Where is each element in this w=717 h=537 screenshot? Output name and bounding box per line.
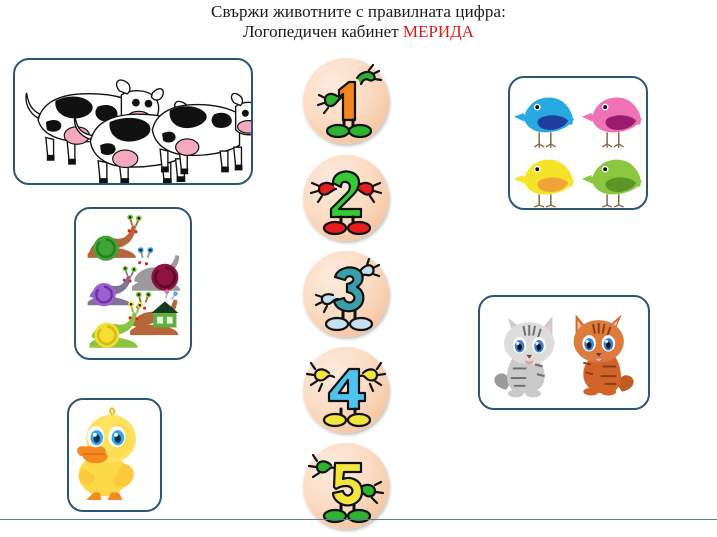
animal-card-duckling[interactable] bbox=[67, 398, 162, 512]
cows-illustration bbox=[15, 60, 251, 183]
animal-card-snails[interactable] bbox=[74, 207, 192, 360]
footer-divider bbox=[0, 519, 717, 520]
kittens-illustration bbox=[480, 297, 648, 408]
number-medallion-1[interactable] bbox=[303, 58, 389, 144]
animal-card-cows[interactable] bbox=[13, 58, 253, 185]
digit-2-character bbox=[303, 155, 389, 241]
number-medallion-2[interactable] bbox=[303, 155, 389, 241]
number-medallion-3[interactable] bbox=[303, 251, 389, 337]
clinic-label: Логопедичен кабинет bbox=[243, 22, 403, 41]
digit-4-character bbox=[303, 347, 389, 433]
birds-illustration bbox=[510, 78, 646, 208]
page-title: Свържи животните с правилната цифра: Лог… bbox=[0, 2, 717, 42]
clinic-name: МЕРИДА bbox=[403, 22, 474, 41]
duckling-illustration bbox=[69, 400, 160, 510]
instruction-line: Свържи животните с правилната цифра: bbox=[0, 2, 717, 22]
clinic-line: Логопедичен кабинет МЕРИДА bbox=[0, 22, 717, 42]
animal-card-kittens[interactable] bbox=[478, 295, 650, 410]
number-medallion-4[interactable] bbox=[303, 347, 389, 433]
digit-1-character bbox=[303, 58, 389, 144]
snails-illustration bbox=[76, 209, 190, 358]
digit-3-character bbox=[303, 251, 389, 337]
digit-5-character bbox=[303, 443, 389, 529]
number-medallion-5[interactable] bbox=[303, 443, 389, 529]
animal-card-birds[interactable] bbox=[508, 76, 648, 210]
